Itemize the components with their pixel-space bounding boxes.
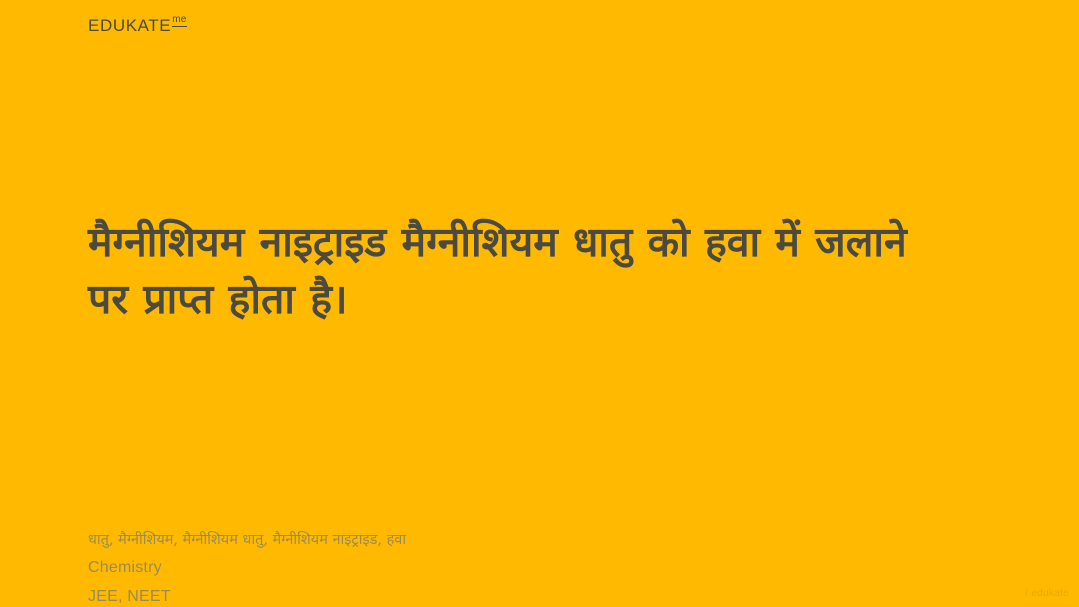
brand-name: EDUKATE bbox=[88, 17, 171, 34]
corner-watermark: / edukate bbox=[1025, 588, 1069, 599]
brand-logo[interactable]: EDUKATE me bbox=[88, 17, 187, 34]
slide-headline: मैग्नीशियम नाइट्राइड मैग्नीशियम धातु को … bbox=[88, 214, 958, 327]
slide-canvas: EDUKATE me मैग्नीशियम नाइट्राइड मैग्नीशि… bbox=[0, 0, 1079, 607]
keyword-tags: धातु, मैग्नीशियम, मैग्नीशियम धातु, मैग्न… bbox=[88, 533, 968, 548]
exam-label: JEE, NEET bbox=[88, 589, 968, 607]
brand-suffix: me bbox=[172, 15, 186, 27]
subject-label: Chemistry bbox=[88, 560, 968, 576]
slide-metadata: धातु, मैग्नीशियम, मैग्नीशियम धातु, मैग्न… bbox=[88, 533, 968, 607]
